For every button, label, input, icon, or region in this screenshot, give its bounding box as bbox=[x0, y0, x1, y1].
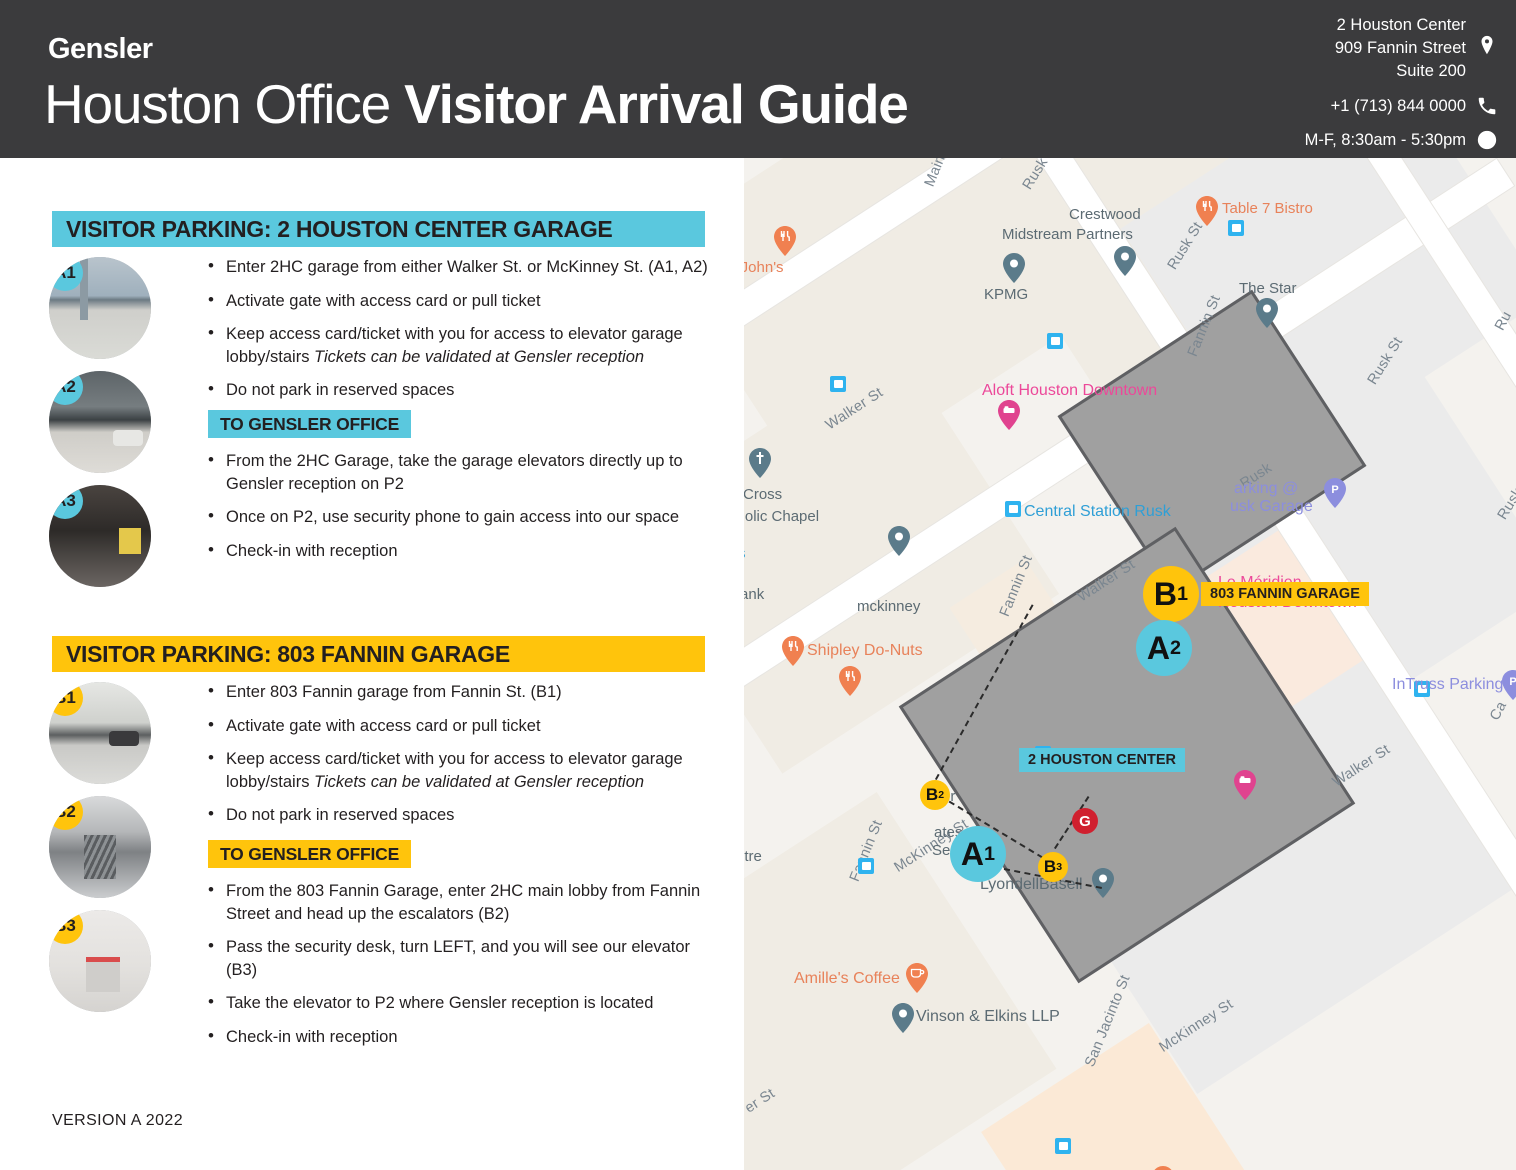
section-a-bullets: Enter 2HC garage from either Walker St. … bbox=[208, 256, 708, 413]
bullet-text-italic: Tickets can be validated at Gensler rece… bbox=[314, 348, 644, 366]
map-marker-a2-key: A bbox=[1147, 630, 1170, 667]
photo-a3: A3 bbox=[49, 485, 151, 587]
map-marker-b2[interactable]: B2 bbox=[920, 780, 950, 810]
business-pin-icon bbox=[892, 1003, 914, 1033]
restaurant-pin-icon bbox=[839, 666, 861, 696]
photo-b2: B2 bbox=[49, 796, 151, 898]
list-item: Take the elevator to P2 where Gensler re… bbox=[208, 992, 718, 1015]
business-pin-icon bbox=[1256, 298, 1278, 328]
bus-stop-icon bbox=[1047, 333, 1063, 349]
cafe-pin-icon bbox=[906, 963, 928, 993]
list-item: Activate gate with access card or pull t… bbox=[208, 290, 708, 313]
poi-label-midstream-partners: Midstream Partners bbox=[1002, 226, 1133, 243]
poi-label-rusk-garage: usk Garage bbox=[1230, 498, 1313, 516]
map-marker-gensler-key: G bbox=[1079, 813, 1091, 830]
svg-text:P: P bbox=[1331, 484, 1338, 496]
visitor-arrival-guide-page: Gensler Houston Office Visitor Arrival G… bbox=[0, 0, 1516, 1170]
header-contact-block: 2 Houston Center 909 Fannin Street Suite… bbox=[1305, 14, 1498, 151]
poi-label-crestwood: Crestwood bbox=[1069, 206, 1141, 223]
poi-label-shipley-do-nuts: Shipley Do-Nuts bbox=[807, 642, 923, 660]
bullet-text: Check-in with reception bbox=[226, 1028, 398, 1046]
bullet-text: From the 803 Fannin Garage, enter 2HC ma… bbox=[226, 882, 700, 923]
address-line-3: Suite 200 bbox=[1335, 60, 1466, 83]
poi-label-parking-at: arking @ bbox=[1234, 480, 1298, 498]
poi-label-mckinney: mckinney bbox=[857, 598, 920, 615]
map-marker-a1-key: A bbox=[961, 836, 984, 873]
photo-b3: B3 bbox=[49, 910, 151, 1012]
address-block: 2 Houston Center 909 Fannin Street Suite… bbox=[1305, 14, 1498, 83]
map-label-2-houston-center: 2 HOUSTON CENTER bbox=[1019, 748, 1185, 772]
map-marker-a1[interactable]: A1 bbox=[950, 826, 1006, 882]
photo-b1: B1 bbox=[49, 682, 151, 784]
instructions-column: VISITOR PARKING: 2 HOUSTON CENTER GARAGE… bbox=[0, 158, 744, 1170]
section-b-bullets: Enter 803 Fannin garage from Fannin St. … bbox=[208, 681, 708, 838]
location-pin-icon bbox=[1476, 34, 1498, 56]
section-b-subheading: TO GENSLER OFFICE bbox=[208, 840, 411, 868]
list-item: Do not park in reserved spaces bbox=[208, 379, 708, 402]
restaurant-pin-icon bbox=[774, 226, 796, 256]
list-item: From the 803 Fannin Garage, enter 2HC ma… bbox=[208, 880, 718, 925]
hotel-pin-icon bbox=[998, 400, 1020, 430]
poi-label-holy-cross: ly Cross bbox=[744, 486, 782, 503]
list-item: Enter 803 Fannin garage from Fannin St. … bbox=[208, 681, 708, 704]
map-marker-b2-sub: 2 bbox=[938, 789, 944, 801]
list-item: Check-in with reception bbox=[208, 1026, 718, 1049]
address-line-1: 2 Houston Center bbox=[1335, 14, 1466, 37]
map-marker-b3[interactable]: B3 bbox=[1038, 852, 1068, 882]
bullet-text: Take the elevator to P2 where Gensler re… bbox=[226, 994, 653, 1012]
transit-station-icon bbox=[1005, 501, 1021, 517]
map-label-803-fannin-garage: 803 FANNIN GARAGE bbox=[1201, 582, 1369, 606]
bullet-text: Enter 2HC garage from either Walker St. … bbox=[226, 258, 708, 276]
poi-label-s: s bbox=[744, 545, 746, 562]
bullet-text-italic: Tickets can be validated at Gensler rece… bbox=[314, 773, 644, 791]
address-lines: 2 Houston Center 909 Fannin Street Suite… bbox=[1335, 14, 1466, 83]
bus-stop-icon bbox=[1055, 1138, 1071, 1154]
poi-label-bank: Bank bbox=[744, 586, 764, 603]
map-marker-a1-sub: 1 bbox=[984, 843, 995, 866]
phone-icon bbox=[1476, 95, 1498, 117]
version-label: VERSION A 2022 bbox=[52, 1112, 183, 1130]
poi-label-vinson-elkins: Vinson & Elkins LLP bbox=[916, 1008, 1060, 1026]
hours-block: M-F, 8:30am - 5:30pm bbox=[1305, 129, 1498, 151]
poi-label-kpmg: KPMG bbox=[984, 286, 1028, 303]
poi-label-amilles-coffee: Amille's Coffee bbox=[794, 970, 900, 988]
poi-label-lyondellbasell: LyondellBasell bbox=[980, 876, 1083, 894]
page-title: Houston Office Visitor Arrival Guide bbox=[44, 72, 908, 136]
clock-icon bbox=[1476, 129, 1498, 151]
svg-text:P: P bbox=[1509, 676, 1516, 688]
list-item: Do not park in reserved spaces bbox=[208, 804, 708, 827]
restaurant-pin-icon bbox=[1152, 1166, 1174, 1170]
location-map[interactable]: Main Rusk St Rusk St Rusk St Rusk St Wal… bbox=[744, 158, 1516, 1170]
poi-label-the-star: The Star bbox=[1239, 280, 1297, 297]
poi-label-table-7-bistro: Table 7 Bistro bbox=[1222, 200, 1313, 217]
map-marker-b1-key: B bbox=[1154, 576, 1177, 613]
map-marker-b1-sub: 1 bbox=[1177, 583, 1188, 606]
list-item: Check-in with reception bbox=[208, 540, 708, 563]
list-item: Activate gate with access card or pull t… bbox=[208, 715, 708, 738]
business-pin-icon bbox=[888, 526, 910, 556]
business-pin-icon bbox=[1003, 253, 1025, 283]
map-marker-a2[interactable]: A2 bbox=[1136, 620, 1192, 676]
phone-block: +1 (713) 844 0000 bbox=[1305, 95, 1498, 117]
list-item: Keep access card/ticket with you for acc… bbox=[208, 323, 708, 368]
list-item: Enter 2HC garage from either Walker St. … bbox=[208, 256, 708, 279]
hotel-pin-icon bbox=[1234, 770, 1256, 800]
phone-number: +1 (713) 844 0000 bbox=[1331, 97, 1466, 116]
photo-a1: A1 bbox=[49, 257, 151, 359]
poi-label-catholic-chapel: atholic Chapel bbox=[744, 508, 819, 525]
list-item: From the 2HC Garage, take the garage ele… bbox=[208, 450, 708, 495]
address-line-2: 909 Fannin Street bbox=[1335, 37, 1466, 60]
map-marker-gensler[interactable]: G bbox=[1072, 808, 1098, 834]
section-a-heading: VISITOR PARKING: 2 HOUSTON CENTER GARAGE bbox=[52, 211, 705, 247]
photo-a2: A2 bbox=[49, 371, 151, 473]
bus-stop-icon bbox=[830, 376, 846, 392]
poi-label-intruss-parking: InTruss Parking bbox=[1392, 676, 1503, 694]
section-b-sub-bullets: From the 803 Fannin Garage, enter 2HC ma… bbox=[208, 880, 718, 1059]
page-title-light: Houston Office bbox=[44, 73, 404, 135]
bullet-text: Check-in with reception bbox=[226, 542, 398, 560]
parking-pin-icon: P bbox=[1502, 670, 1516, 700]
page-header: Gensler Houston Office Visitor Arrival G… bbox=[0, 0, 1516, 158]
map-marker-b2-key: B bbox=[926, 785, 938, 805]
bullet-text: Once on P2, use security phone to gain a… bbox=[226, 508, 679, 526]
bus-stop-icon bbox=[1228, 220, 1244, 236]
section-a-subheading: TO GENSLER OFFICE bbox=[208, 410, 411, 438]
bullet-text: Do not park in reserved spaces bbox=[226, 381, 454, 399]
business-pin-icon bbox=[1092, 868, 1114, 898]
bullet-text: Activate gate with access card or pull t… bbox=[226, 292, 541, 310]
gensler-logo: Gensler bbox=[48, 33, 153, 66]
bullet-text: Activate gate with access card or pull t… bbox=[226, 717, 541, 735]
section-a-sub-bullets: From the 2HC Garage, take the garage ele… bbox=[208, 450, 708, 573]
poi-label-jimmy-johns: y John's bbox=[744, 259, 784, 276]
bus-stop-icon bbox=[858, 858, 874, 874]
list-item: Keep access card/ticket with you for acc… bbox=[208, 748, 708, 793]
list-item: Pass the security desk, turn LEFT, and y… bbox=[208, 936, 718, 981]
office-hours: M-F, 8:30am - 5:30pm bbox=[1305, 131, 1466, 150]
map-marker-b3-sub: 3 bbox=[1056, 861, 1062, 873]
business-pin-icon bbox=[1114, 246, 1136, 276]
bullet-text: Enter 803 Fannin garage from Fannin St. … bbox=[226, 683, 562, 701]
bullet-text: Do not park in reserved spaces bbox=[226, 806, 454, 824]
list-item: Once on P2, use security phone to gain a… bbox=[208, 506, 708, 529]
bullet-text: From the 2HC Garage, take the garage ele… bbox=[226, 452, 683, 493]
map-marker-b3-key: B bbox=[1044, 857, 1056, 877]
parking-pin-icon: P bbox=[1324, 478, 1346, 508]
restaurant-pin-icon bbox=[1196, 196, 1218, 226]
bullet-text: Pass the security desk, turn LEFT, and y… bbox=[226, 938, 690, 979]
poi-label-central-station-rusk: Central Station Rusk bbox=[1024, 503, 1171, 521]
page-title-bold: Visitor Arrival Guide bbox=[404, 73, 908, 135]
map-marker-a2-sub: 2 bbox=[1170, 637, 1181, 660]
church-pin-icon bbox=[749, 448, 771, 478]
map-marker-b1[interactable]: B1 bbox=[1143, 566, 1199, 622]
poi-label-ntre: ntre bbox=[744, 848, 762, 865]
restaurant-pin-icon bbox=[782, 636, 804, 666]
section-b-heading: VISITOR PARKING: 803 FANNIN GARAGE bbox=[52, 636, 705, 672]
poi-label-aloft-houston-downtown: Aloft Houston Downtown bbox=[982, 382, 1157, 400]
